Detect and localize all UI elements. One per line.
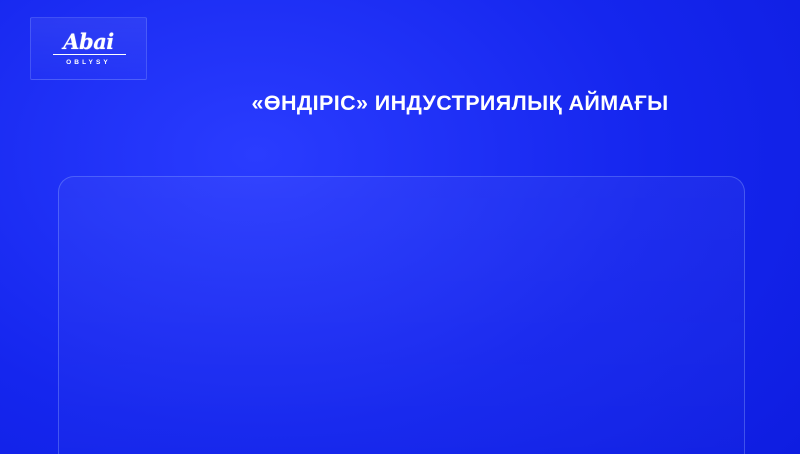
logo-subtitle: OBLYSY	[66, 59, 111, 66]
page-title: «ӨНДІРІС» ИНДУСТРИЯЛЫҚ АЙМАҒЫ	[160, 91, 760, 116]
presentation-slide: Abai OBLYSY «ӨНДІРІС» ИНДУСТРИЯЛЫҚ АЙМАҒ…	[0, 0, 800, 454]
content-panel	[58, 176, 745, 454]
abai-oblysy-logo: Abai OBLYSY	[30, 17, 147, 80]
logo-wordmark: Abai	[63, 31, 114, 52]
